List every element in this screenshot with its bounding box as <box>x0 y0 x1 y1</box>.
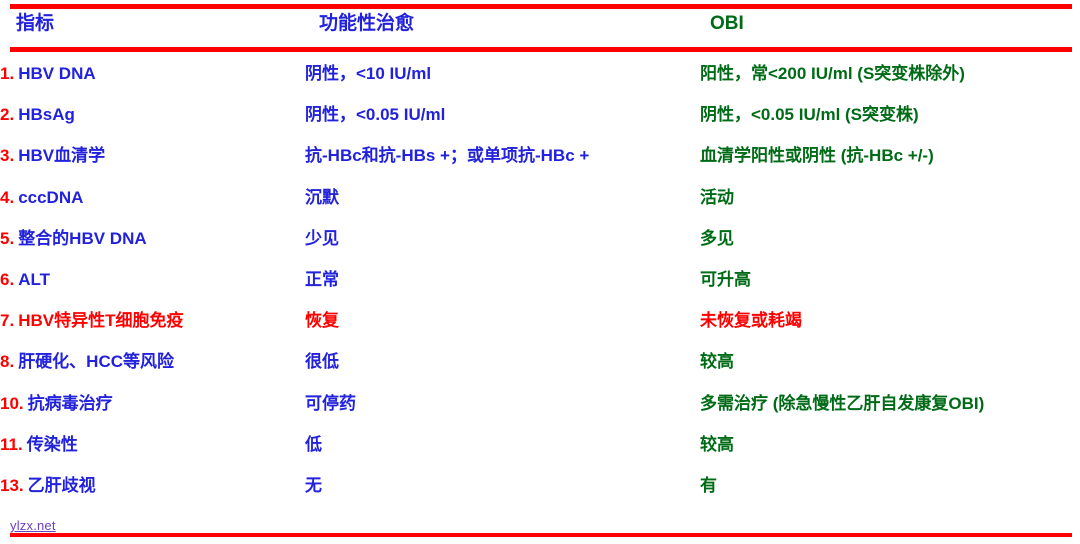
table-row: 3.HBV血清学抗-HBc和抗-HBs +；或单项抗-HBc +血清学阳性或阴性… <box>0 135 1080 176</box>
row-index-number: 11. <box>0 435 23 454</box>
table-header: 指标 功能性治愈 OBI <box>0 0 1080 53</box>
table-row: 6.ALT正常可升高 <box>0 259 1080 300</box>
row-functional-cure-cell: 沉默 <box>305 177 700 218</box>
row-index-number: 6. <box>0 270 14 289</box>
column-header-metric: 指标 <box>0 0 305 47</box>
row-metric-label: HBV DNA <box>18 64 95 83</box>
row-metric-cell: 2.HBsAg <box>0 94 305 135</box>
row-metric-label: 乙肝歧视 <box>28 476 96 495</box>
row-obi-cell: 有 <box>700 465 1080 506</box>
table-row: 10.抗病毒治疗可停药多需治疗 (除急慢性乙肝自发康复OBI) <box>0 383 1080 424</box>
bottom-divider-rule <box>10 533 1072 537</box>
row-obi-cell: 阴性，<0.05 IU/ml (S突变株) <box>700 94 1080 135</box>
row-obi-cell: 多见 <box>700 218 1080 259</box>
row-metric-cell: 10.抗病毒治疗 <box>0 383 305 424</box>
row-metric-label: HBsAg <box>18 105 75 124</box>
row-index-number: 5. <box>0 229 14 248</box>
row-index-number: 7. <box>0 311 14 330</box>
table-row: 7.HBV特异性T细胞免疫恢复未恢复或耗竭 <box>0 300 1080 341</box>
table-body: 1.HBV DNA阴性，<10 IU/ml阳性，常<200 IU/ml (S突变… <box>0 53 1080 506</box>
row-metric-cell: 4.cccDNA <box>0 177 305 218</box>
row-metric-label: 整合的HBV DNA <box>18 229 146 248</box>
row-obi-cell: 活动 <box>700 177 1080 218</box>
row-functional-cure-cell: 抗-HBc和抗-HBs +；或单项抗-HBc + <box>305 135 700 176</box>
row-index-number: 10. <box>0 394 24 413</box>
row-metric-label: 肝硬化、HCC等风险 <box>18 352 174 371</box>
row-metric-label: HBV血清学 <box>18 146 105 165</box>
comparison-slide: 指标 功能性治愈 OBI 1.HBV DNA阴性，<10 IU/ml阳性，常<2… <box>0 0 1080 544</box>
row-functional-cure-cell: 少见 <box>305 218 700 259</box>
row-obi-cell: 多需治疗 (除急慢性乙肝自发康复OBI) <box>700 383 1080 424</box>
row-metric-label: 抗病毒治疗 <box>28 394 113 413</box>
row-obi-cell: 较高 <box>700 341 1080 382</box>
row-index-number: 2. <box>0 105 14 124</box>
row-obi-cell: 阳性，常<200 IU/ml (S突变株除外) <box>700 53 1080 94</box>
row-metric-label: ALT <box>18 270 50 289</box>
row-index-number: 3. <box>0 146 14 165</box>
row-obi-cell: 血清学阳性或阴性 (抗-HBc +/-) <box>700 135 1080 176</box>
row-functional-cure-cell: 可停药 <box>305 383 700 424</box>
row-metric-cell: 6.ALT <box>0 259 305 300</box>
row-metric-label: cccDNA <box>18 188 83 207</box>
watermark-label: ylzx.net <box>10 518 56 533</box>
table-row: 8.肝硬化、HCC等风险很低较高 <box>0 341 1080 382</box>
row-metric-label: 传染性 <box>27 435 78 454</box>
row-metric-cell: 5.整合的HBV DNA <box>0 218 305 259</box>
row-functional-cure-cell: 无 <box>305 465 700 506</box>
table-row: 11.传染性低较高 <box>0 424 1080 465</box>
table-row: 1.HBV DNA阴性，<10 IU/ml阳性，常<200 IU/ml (S突变… <box>0 53 1080 94</box>
row-metric-cell: 7.HBV特异性T细胞免疫 <box>0 300 305 341</box>
column-header-obi: OBI <box>700 0 1080 47</box>
column-header-functional-cure: 功能性治愈 <box>305 0 700 47</box>
row-functional-cure-cell: 低 <box>305 424 700 465</box>
row-index-number: 1. <box>0 64 14 83</box>
row-obi-cell: 较高 <box>700 424 1080 465</box>
row-metric-cell: 8.肝硬化、HCC等风险 <box>0 341 305 382</box>
row-functional-cure-cell: 阴性，<0.05 IU/ml <box>305 94 700 135</box>
table-row: 5.整合的HBV DNA少见多见 <box>0 218 1080 259</box>
row-obi-cell: 未恢复或耗竭 <box>700 300 1080 341</box>
row-functional-cure-cell: 正常 <box>305 259 700 300</box>
table-header-row: 指标 功能性治愈 OBI <box>0 0 1080 47</box>
table-row: 13.乙肝歧视无有 <box>0 465 1080 506</box>
table-row: 4.cccDNA沉默活动 <box>0 177 1080 218</box>
row-index-number: 13. <box>0 476 24 495</box>
row-metric-cell: 1.HBV DNA <box>0 53 305 94</box>
table-row: 2.HBsAg阴性，<0.05 IU/ml阴性，<0.05 IU/ml (S突变… <box>0 94 1080 135</box>
row-obi-cell: 可升高 <box>700 259 1080 300</box>
row-metric-cell: 3.HBV血清学 <box>0 135 305 176</box>
row-functional-cure-cell: 阴性，<10 IU/ml <box>305 53 700 94</box>
row-metric-cell: 13.乙肝歧视 <box>0 465 305 506</box>
comparison-table: 指标 功能性治愈 OBI 1.HBV DNA阴性，<10 IU/ml阳性，常<2… <box>0 0 1080 506</box>
row-index-number: 4. <box>0 188 14 207</box>
row-functional-cure-cell: 恢复 <box>305 300 700 341</box>
row-functional-cure-cell: 很低 <box>305 341 700 382</box>
row-metric-cell: 11.传染性 <box>0 424 305 465</box>
row-index-number: 8. <box>0 352 14 371</box>
row-metric-label: HBV特异性T细胞免疫 <box>18 311 183 330</box>
